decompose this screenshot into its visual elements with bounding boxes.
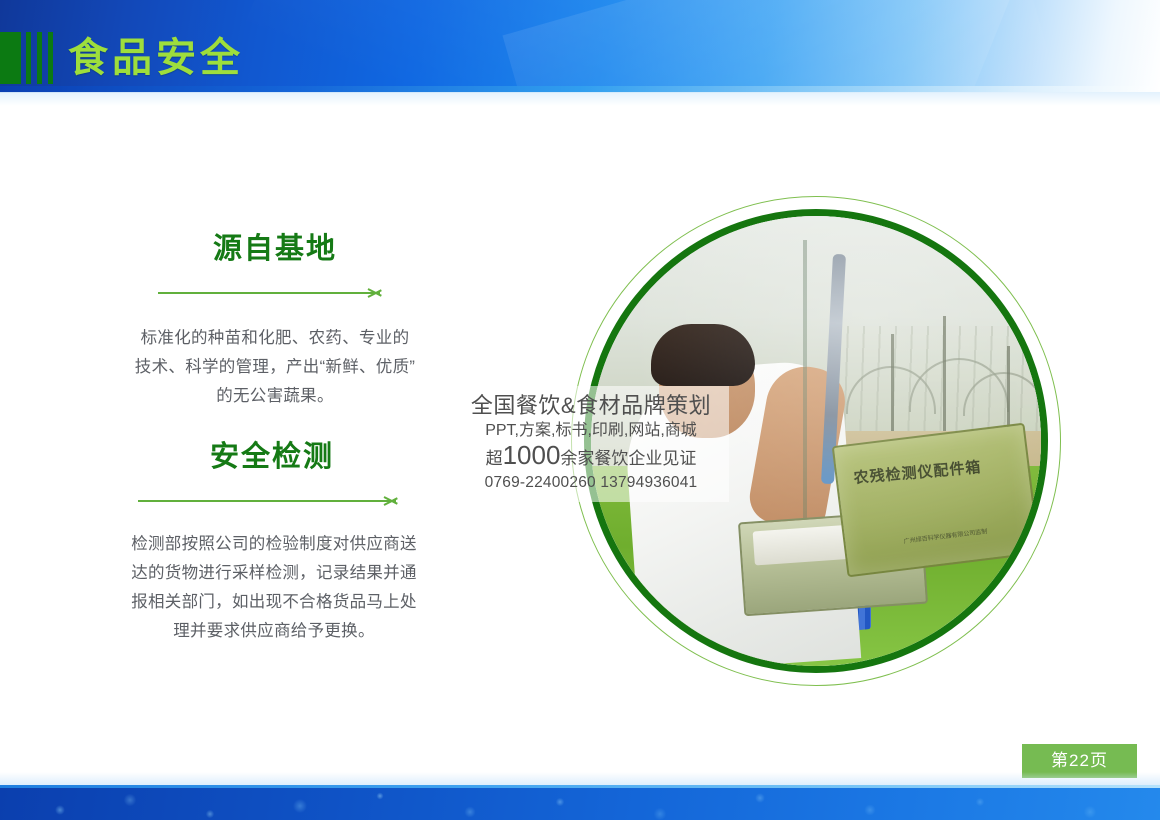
page-title: 食品安全 (68, 34, 244, 82)
photo-case-label: 农残检测仪配件箱 (853, 453, 1014, 488)
arrow-line-2 (138, 500, 396, 502)
section-source-base: 源自基地 标准化的种苗和化肥、农药、专业的技术、科学的管理，产出“新鲜、优质”的… (130, 230, 420, 411)
arrow-head-2 (384, 493, 400, 509)
section-safety-inspection: 安全检测 检测部按照公司的检验制度对供应商送达的货物进行采样检测，记录结果并通报… (122, 438, 422, 646)
section-heading-2: 安全检测 (122, 438, 422, 476)
inspection-photo: 农残检测仪配件箱 广州绿百科学仪器有限公司监制 (591, 216, 1041, 666)
section-heading-1: 源自基地 (130, 230, 420, 268)
slide-footer (0, 788, 1160, 820)
photo-case-sublabel: 广州绿百科学仪器有限公司监制 (903, 526, 987, 545)
right-arrow-icon (138, 492, 414, 510)
right-arrow-icon (158, 284, 398, 302)
slide-canvas: 食品安全 源自基地 标准化的种苗和化肥、农药、专业的技术、科学的管理，产出“新鲜… (0, 0, 1160, 820)
logo-solid-block (0, 32, 21, 84)
logo-bar-2 (37, 32, 42, 84)
footer-fade (0, 772, 1160, 786)
watermark-line-3-number: 1000 (503, 440, 561, 470)
header-sheen-upper (244, 0, 1017, 92)
logo-bar-1 (26, 32, 31, 84)
photo-person-hair (651, 324, 755, 386)
section-body-2: 检测部按照公司的检验制度对供应商送达的货物进行采样检测，记录结果并通报相关部门，… (128, 530, 420, 646)
green-bars-logo-icon (0, 32, 52, 84)
watermark-line-3-prefix: 超 (486, 449, 503, 468)
arrow-head-1 (368, 285, 384, 301)
section-body-1: 标准化的种苗和化肥、农药、专业的技术、科学的管理，产出“新鲜、优质”的无公害蔬果… (134, 324, 416, 411)
slide-header: 食品安全 (0, 0, 1160, 92)
photo-instrument-case-lid: 农残检测仪配件箱 广州绿百科学仪器有限公司监制 (832, 423, 1041, 578)
header-glow (0, 92, 1160, 106)
arrow-line-1 (158, 292, 380, 294)
logo-bar-3 (48, 32, 53, 84)
header-sheen-lower (503, 0, 1058, 92)
circular-photo-frame: 农残检测仪配件箱 广州绿百科学仪器有限公司监制 (571, 196, 1061, 686)
